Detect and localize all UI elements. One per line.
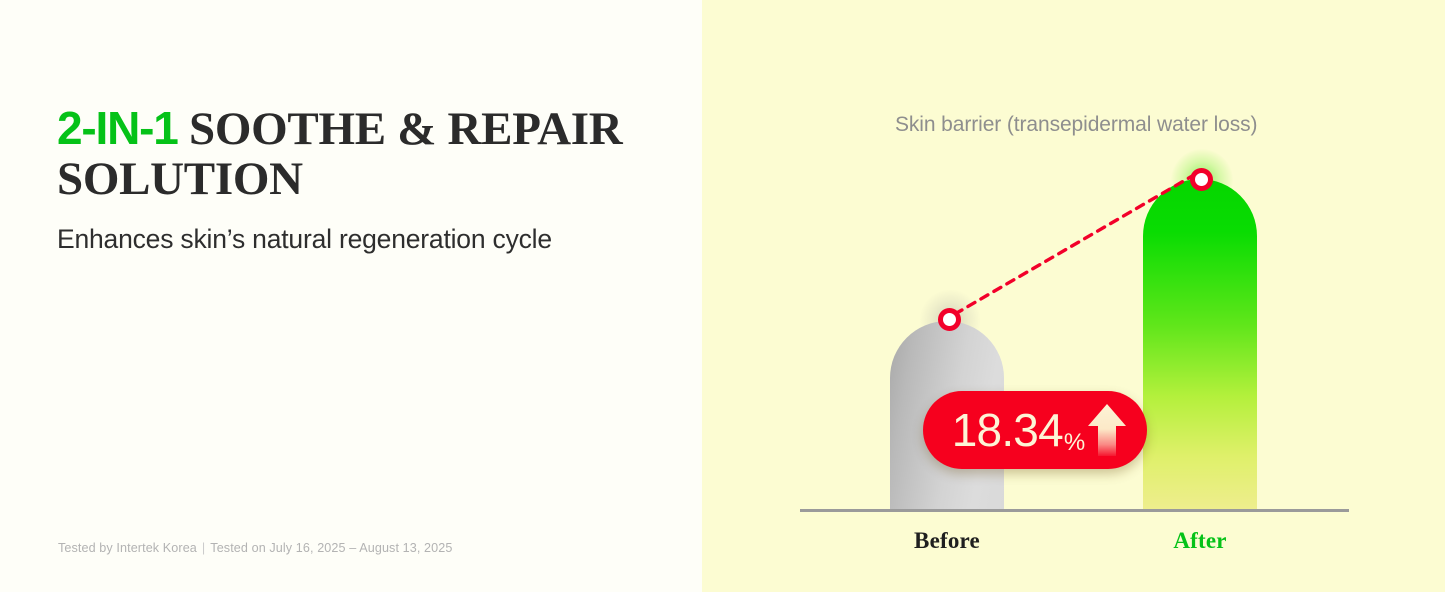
page-title: 2-IN-1 SOOTHE & REPAIR SOLUTION [57, 104, 657, 205]
data-point-marker-after [1190, 168, 1213, 191]
arrow-up-icon [1086, 402, 1128, 458]
change-badge: 18.34 % [923, 391, 1147, 469]
badge-value: 18.34 [952, 407, 1063, 453]
bar-after [1143, 179, 1257, 509]
footnote-period: Tested on July 16, 2025 – August 13, 202… [210, 541, 452, 555]
subtitle: Enhances skin’s natural regeneration cyc… [57, 224, 552, 255]
chart-panel: Skin barrier (transepidermal water loss)… [702, 0, 1445, 592]
headline-accent: 2-IN-1 [57, 102, 178, 154]
x-label-before: Before [867, 528, 1027, 554]
infographic-page: 2-IN-1 SOOTHE & REPAIR SOLUTION Enhances… [0, 0, 1445, 592]
data-point-marker-before [938, 308, 961, 331]
x-label-after: After [1120, 528, 1280, 554]
footnote: Tested by Intertek Korea|Tested on July … [58, 541, 452, 555]
chart-baseline [800, 509, 1349, 512]
chart-area: 18.34 % Before After [702, 0, 1445, 592]
left-content-panel: 2-IN-1 SOOTHE & REPAIR SOLUTION Enhances… [0, 0, 702, 592]
footnote-lab: Tested by Intertek Korea [58, 541, 197, 555]
footnote-separator: | [197, 541, 210, 555]
badge-unit: % [1064, 429, 1085, 469]
trend-connector-line [702, 0, 1445, 592]
